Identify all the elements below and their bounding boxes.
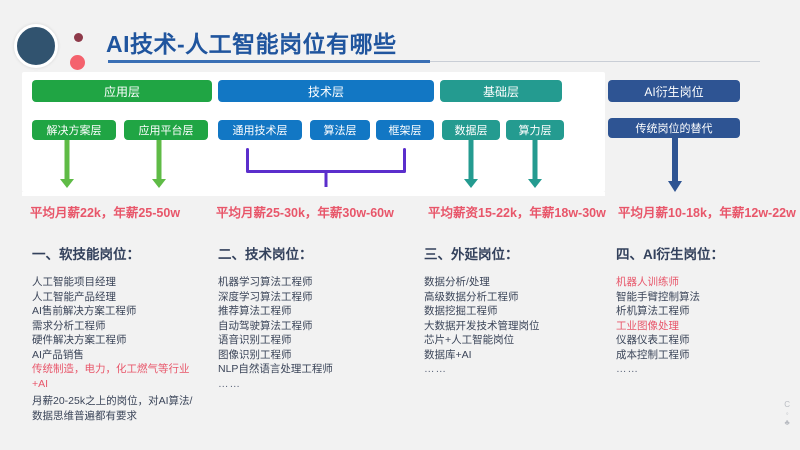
list-item: 成本控制工程师 [616,348,786,363]
sublayer-chip-label: 传统岗位的替代 [636,120,713,136]
connector-arrow-data-icon [464,140,478,188]
decorative-circle-icon [14,24,58,68]
title-underline [108,60,430,63]
list-item: 大数据开发技术管理岗位 [424,319,609,334]
list-item: 高级数据分析工程师 [424,290,609,305]
footnote-text: 月薪20-25k之上的岗位，对AI算法/数据思维普遍都有要求 [32,394,197,423]
sublayer-chip-algorithm[interactable]: 算法层 [310,120,370,140]
list-item: 深度学习算法工程师 [218,290,403,305]
layer-chip-ai-derivative[interactable]: AI衍生岗位 [608,80,740,102]
layer-chip-technology[interactable]: 技术层 [218,80,434,102]
sublayer-chip-traditional-replacement[interactable]: 传统岗位的替代 [608,118,740,138]
list-item: 仪器仪表工程师 [616,333,786,348]
sublayer-chip-label: 算力层 [519,122,552,138]
column-heading: 三、外延岗位： [424,243,609,263]
connector-arrow-platform-icon [152,140,166,188]
list-item: …… [616,362,786,377]
list-item: 语音识别工程师 [218,333,403,348]
sublayer-chip-compute[interactable]: 算力层 [506,120,564,140]
layer-chip-label: 技术层 [308,83,344,100]
connector-arrow-ai-derivative-icon [666,138,684,192]
layer-chip-label: AI衍生岗位 [644,83,703,100]
column-ai-derivative: 四、AI衍生岗位： 机器人训练师 智能手臂控制算法 析机算法工程师 工业图像处理… [616,243,786,377]
layer-chip-label: 应用层 [104,83,140,100]
sublayer-chip-solution[interactable]: 解决方案层 [32,120,116,140]
sublayer-chip-platform[interactable]: 应用平台层 [124,120,208,140]
sublayer-chip-framework[interactable]: 框架层 [376,120,434,140]
column-technical: 二、技术岗位： 机器学习算法工程师 深度学习算法工程师 推荐算法工程师 自动驾驶… [218,243,403,391]
list-item: 数据库+AI [424,348,609,363]
list-item: 工业图像处理 [616,319,786,334]
list-item: 数据分析/处理 [424,275,609,290]
sublayer-chip-label: 应用平台层 [139,122,194,138]
list-item: 推荐算法工程师 [218,304,403,319]
list-item: 人工智能项目经理 [32,275,207,290]
job-list: 人工智能项目经理 人工智能产品经理 AI售前解决方案工程师 需求分析工程师 硬件… [32,275,207,406]
page-title: AI技术-人工智能岗位有哪些 [106,25,397,59]
job-list: 数据分析/处理 高级数据分析工程师 数据挖掘工程师 大数据开发技术管理岗位 芯片… [424,275,609,377]
list-item: 析机算法工程师 [616,304,786,319]
job-list: 机器学习算法工程师 深度学习算法工程师 推荐算法工程师 自动驾驶算法工程师 语音… [218,275,403,391]
column-soft-skill: 一、软技能岗位： 人工智能项目经理 人工智能产品经理 AI售前解决方案工程师 需… [32,243,207,406]
list-item: 智能手臂控制算法 [616,290,786,305]
salary-text-derivative: 平均月薪10-18k，年薪12w-22w [618,202,796,221]
sublayer-chip-label: 框架层 [389,122,422,138]
list-item: 自动驾驶算法工程师 [218,319,403,334]
column-heading: 四、AI衍生岗位： [616,243,786,263]
connector-bracket-technology-icon [246,140,406,188]
layer-chip-label: 基础层 [483,83,519,100]
decorative-dot-dark-icon [74,33,83,42]
watermark-circle-icon: ◦ [784,409,790,418]
list-item: 芯片+人工智能岗位 [424,333,609,348]
sublayer-chip-general-tech[interactable]: 通用技术层 [218,120,302,140]
column-heading: 二、技术岗位： [218,243,403,263]
list-item: 需求分析工程师 [32,319,207,334]
list-item: 机器人训练师 [616,275,786,290]
list-item: …… [218,377,403,392]
connector-arrow-compute-icon [528,140,542,188]
connector-arrow-solution-icon [60,140,74,188]
watermark-copyright-icon: C [784,400,790,409]
list-item: 硬件解决方案工程师 [32,333,207,348]
layer-chip-application[interactable]: 应用层 [32,80,212,102]
list-item: 图像识别工程师 [218,348,403,363]
diagram-panel-strip [22,192,605,196]
title-underline-light [430,61,760,62]
decorative-dot-red-icon [70,55,85,70]
sublayer-chip-label: 解决方案层 [47,122,102,138]
list-item: 数据挖掘工程师 [424,304,609,319]
job-list: 机器人训练师 智能手臂控制算法 析机算法工程师 工业图像处理 仪器仪表工程师 成… [616,275,786,377]
salary-text-technical: 平均月薪25-30k，年薪30w-60w [216,202,394,221]
salary-text-extension: 平均薪资15-22k，年薪18w-30w [428,202,606,221]
watermark-icons: C ◦ ♣ [784,400,790,427]
list-item: 机器学习算法工程师 [218,275,403,290]
list-item: 人工智能产品经理 [32,290,207,305]
list-item: …… [424,362,609,377]
sublayer-chip-label: 数据层 [455,122,488,138]
slide-canvas: AI技术-人工智能岗位有哪些 应用层 技术层 基础层 AI衍生岗位 解决方案层 … [0,0,800,450]
list-item: NLP自然语言处理工程师 [218,362,403,377]
list-item: AI售前解决方案工程师 [32,304,207,319]
sublayer-chip-label: 算法层 [324,122,357,138]
column-extension: 三、外延岗位： 数据分析/处理 高级数据分析工程师 数据挖掘工程师 大数据开发技… [424,243,609,377]
layer-chip-foundation[interactable]: 基础层 [440,80,562,102]
list-item: 传统制造，电力，化工燃气等行业 [32,362,207,377]
column-heading: 一、软技能岗位： [32,243,207,263]
salary-text-soft-skill: 平均月薪22k，年薪25-50w [30,202,180,221]
sublayer-chip-data[interactable]: 数据层 [442,120,500,140]
list-item: AI产品销售 [32,348,207,363]
watermark-club-icon: ♣ [784,418,790,427]
sublayer-chip-label: 通用技术层 [233,122,288,138]
list-item: +AI [32,377,207,392]
